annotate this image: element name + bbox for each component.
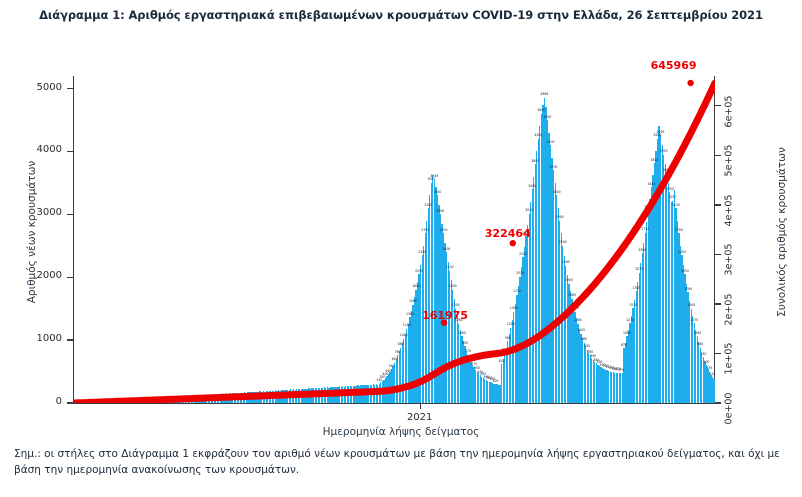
x-axis-tick-label: 2021 (400, 412, 440, 423)
footnote: Σημ.: οι στήλες στο Διάγραμμα 1 εκφράζου… (14, 446, 792, 479)
y-axis-right-title: Συνολικός αριθμός κρουσμάτων (776, 122, 788, 342)
y-axis-right-tick (715, 254, 721, 255)
y-axis-left-tick-label: 1000 (14, 333, 62, 344)
y-axis-left-tick-label: 2000 (14, 270, 62, 281)
y-axis-right-tick (715, 402, 721, 403)
y-axis-right-tick-label: 3e+05 (724, 244, 735, 276)
annotation-total-cases: 645969 (651, 59, 697, 72)
y-axis-left-tick-label: 4000 (14, 144, 62, 155)
annotation-midpoint-cases: 322464 (485, 227, 531, 240)
y-axis-right-tick-label: 4e+05 (724, 194, 735, 226)
footnote-line-1: Σημ.: οι στήλες στο Διάγραμμα 1 εκφράζου… (14, 448, 764, 460)
y-axis-right-tick (715, 353, 721, 354)
cumulative-line-marker (510, 240, 516, 246)
y-axis-left-tick-label: 0 (14, 396, 62, 407)
x-axis-line (73, 403, 715, 404)
y-axis-left-tick-label: 3000 (14, 207, 62, 218)
page-title: Διάγραμμα 1: Αριθμός εργαστηριακά επιβεβ… (0, 8, 802, 22)
y-axis-right-tick-label: 0e+00 (724, 393, 735, 425)
y-axis-right-tick-label: 1e+05 (724, 343, 735, 375)
cumulative-line-marker (687, 80, 693, 86)
x-axis-title: Ημερομηνία λήψης δείγματος (0, 426, 802, 438)
y-axis-left-tick-label: 5000 (14, 82, 62, 93)
plot-area: 3103504004605406407608801020118013601560… (73, 58, 715, 403)
y-axis-right-tick (715, 204, 721, 205)
y-axis-right-tick (715, 155, 721, 156)
y-axis-right-tick (715, 105, 721, 106)
annotation-early-cases: 161975 (422, 309, 468, 322)
y-axis-right-tick-label: 5e+05 (724, 145, 735, 177)
x-axis-tick (420, 403, 421, 409)
y-axis-left-title: Αριθμός νέων κρουσμάτων (26, 122, 38, 342)
cumulative-cases-line (73, 83, 715, 403)
chart-figure: 010002000300040005000 0e+001e+052e+053e+… (0, 26, 802, 426)
y-axis-right-tick (715, 303, 721, 304)
y-axis-right-tick-label: 2e+05 (724, 293, 735, 325)
cumulative-line-layer (73, 58, 715, 403)
y-axis-right-tick-label: 6e+05 (724, 95, 735, 127)
